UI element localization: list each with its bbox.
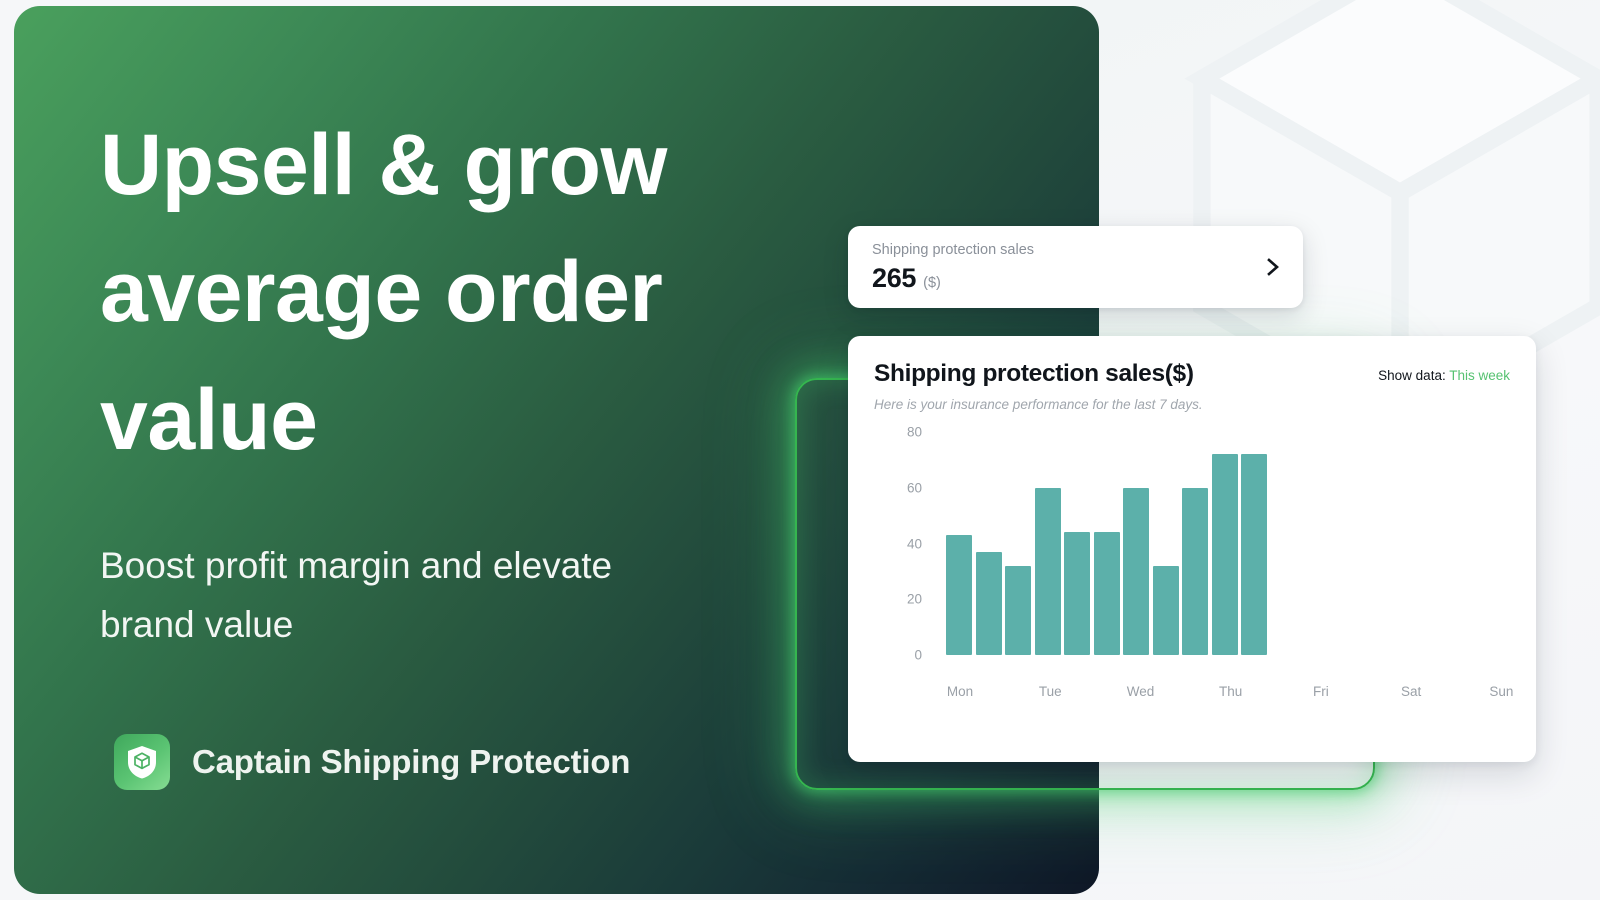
x-axis-tick: Thu xyxy=(1219,684,1242,699)
show-data-value[interactable]: This week xyxy=(1449,368,1510,383)
y-axis-tick: 60 xyxy=(907,480,922,495)
y-axis-tick: 80 xyxy=(907,425,922,440)
chart-bar[interactable] xyxy=(1005,566,1031,655)
stat-card-shipping-protection-sales[interactable]: Shipping protection sales 265 ($) xyxy=(848,226,1303,308)
shield-box-icon xyxy=(114,734,170,790)
chart-bar[interactable] xyxy=(946,535,972,655)
bar-series xyxy=(936,432,1502,677)
stat-card-unit: ($) xyxy=(923,275,941,291)
chart-bar[interactable] xyxy=(1123,488,1149,655)
bar-slot xyxy=(1035,488,1061,655)
chart-header: Shipping protection sales($) Show data: … xyxy=(874,360,1510,388)
y-axis-tick: 40 xyxy=(907,536,922,551)
page-title: Upsell & grow average order value xyxy=(100,102,860,484)
x-axis-tick: Tue xyxy=(1039,684,1062,699)
chart-bar[interactable] xyxy=(1241,454,1267,655)
brand-name: Captain Shipping Protection xyxy=(192,743,630,781)
stat-card-text: Shipping protection sales 265 ($) xyxy=(872,240,1265,293)
x-axis-tick: Sun xyxy=(1489,684,1513,699)
chevron-right-icon[interactable] xyxy=(1265,257,1281,277)
bar-slot xyxy=(1182,488,1208,655)
chart-card: Shipping protection sales($) Show data: … xyxy=(848,336,1536,762)
bar-slot xyxy=(1241,454,1267,655)
y-axis-tick: 0 xyxy=(914,648,922,663)
stat-card-value-row: 265 ($) xyxy=(872,263,1265,294)
x-axis: MonTueWedThuFriSatSun xyxy=(936,684,1502,710)
bar-slot xyxy=(976,552,1002,655)
chart-title: Shipping protection sales($) xyxy=(874,360,1194,388)
page-subtitle: Boost profit margin and elevate brand va… xyxy=(100,536,860,654)
promo-banner: Upsell & grow average order value Boost … xyxy=(0,0,1600,900)
bar-slot xyxy=(1153,566,1179,655)
chart-bar[interactable] xyxy=(976,552,1002,655)
stat-card-value: 265 xyxy=(872,263,916,294)
x-axis-tick: Mon xyxy=(947,684,973,699)
x-axis-tick: Wed xyxy=(1127,684,1155,699)
chart-bar[interactable] xyxy=(1064,532,1090,655)
chart-bar[interactable] xyxy=(1035,488,1061,655)
bar-slot xyxy=(1212,454,1238,655)
stat-card-label: Shipping protection sales xyxy=(872,240,1265,261)
chart-bar[interactable] xyxy=(1153,566,1179,655)
y-axis-tick: 20 xyxy=(907,592,922,607)
bar-slot xyxy=(1064,532,1090,655)
x-axis-tick: Sat xyxy=(1401,684,1421,699)
bar-chart: 806040200 MonTueWedThuFriSatSun xyxy=(874,432,1510,714)
hero-copy: Upsell & grow average order value Boost … xyxy=(100,102,860,654)
bar-slot xyxy=(1005,566,1031,655)
bar-slot xyxy=(1094,532,1120,655)
show-data-label: Show data: xyxy=(1378,368,1446,383)
show-data-control[interactable]: Show data: This week xyxy=(1378,360,1510,383)
chart-bar[interactable] xyxy=(1182,488,1208,655)
chart-subtitle: Here is your insurance performance for t… xyxy=(874,397,1510,412)
bar-slot xyxy=(1123,488,1149,655)
chart-bar[interactable] xyxy=(1094,532,1120,655)
x-axis-tick: Fri xyxy=(1313,684,1329,699)
bar-slot xyxy=(946,535,972,655)
y-axis: 806040200 xyxy=(874,432,922,677)
chart-bar[interactable] xyxy=(1212,454,1238,655)
brand-lockup: Captain Shipping Protection xyxy=(114,734,630,790)
